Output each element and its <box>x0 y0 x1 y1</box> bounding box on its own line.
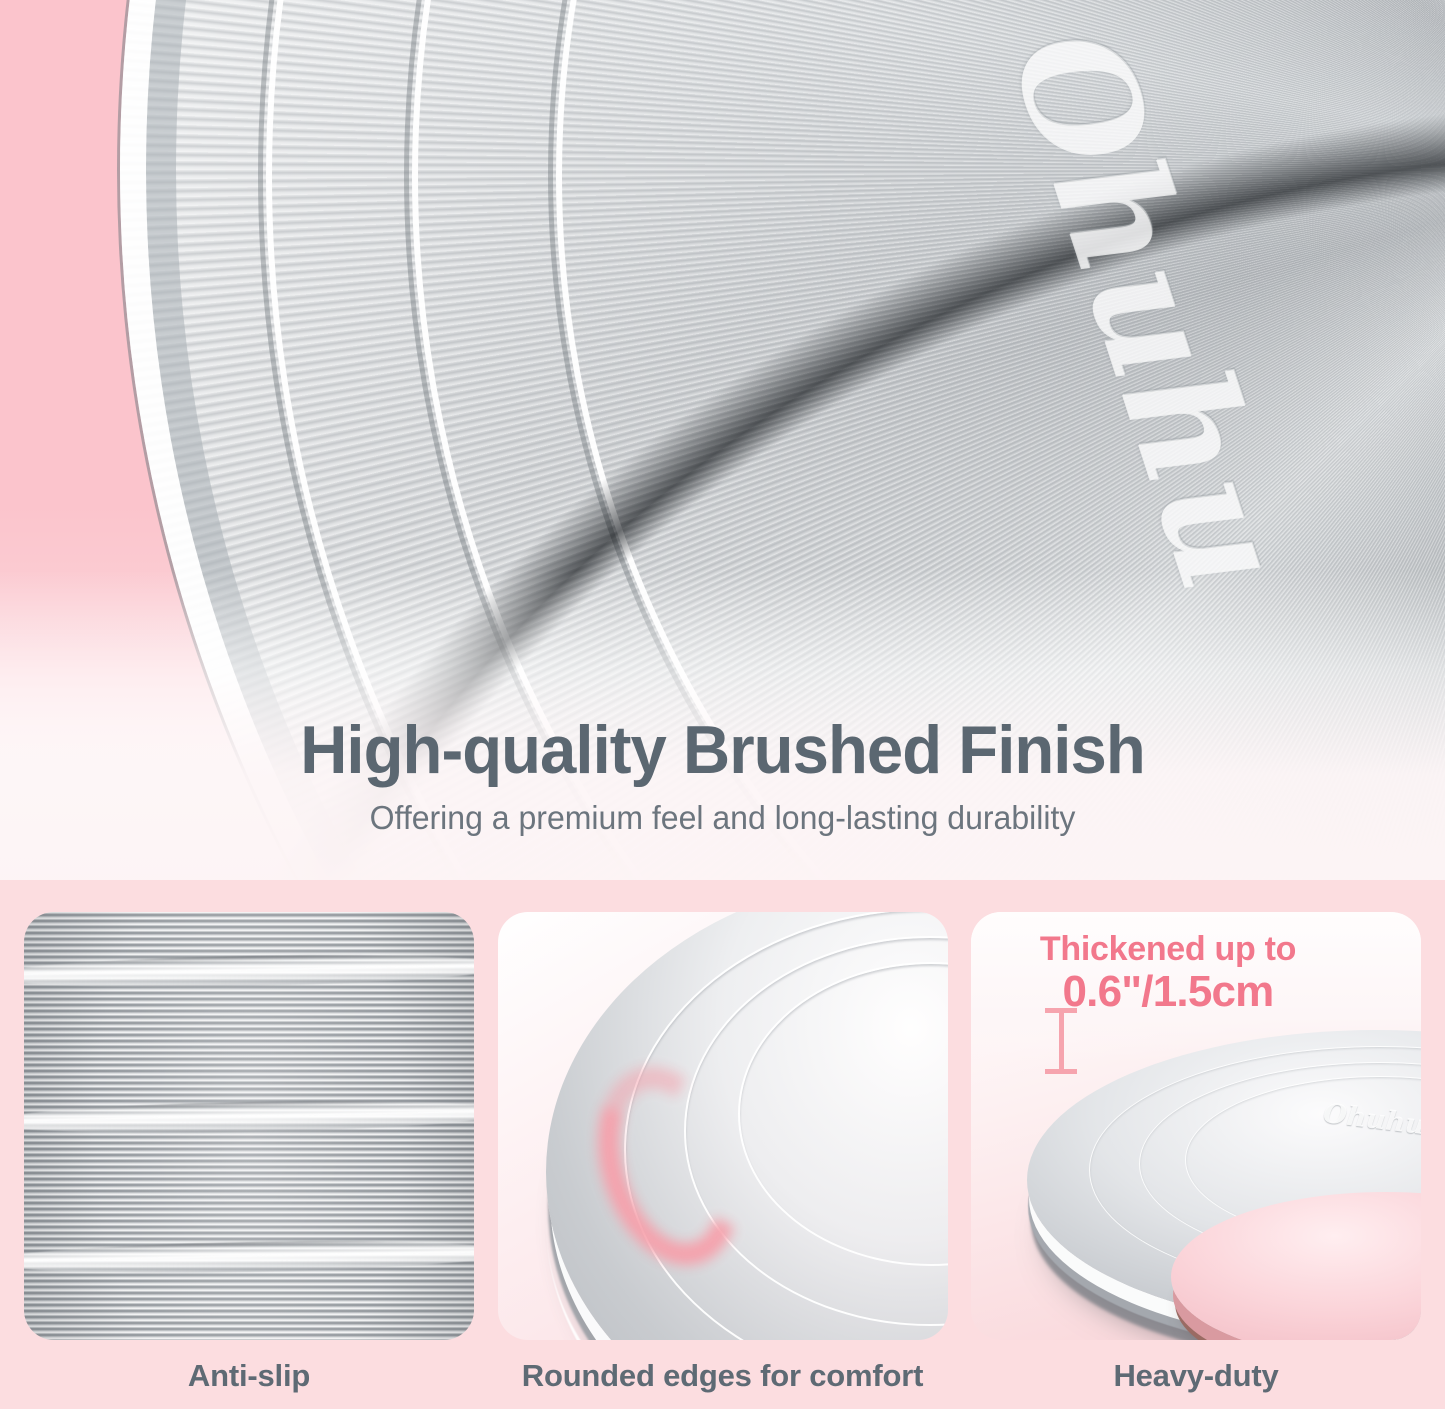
page-title: High-quality Brushed Finish <box>29 716 1416 785</box>
product-feature-page: Ohuhu High-quality Brushed Finish Offeri… <box>0 0 1445 1409</box>
headline-block: High-quality Brushed Finish Offering a p… <box>0 716 1445 837</box>
caption-heavy-duty: Heavy-duty <box>971 1358 1421 1394</box>
caption-anti-slip: Anti-slip <box>24 1358 474 1394</box>
feature-card-heavy-duty[interactable]: Ohuhu Thickened up to 0.6"/1.5cm <box>971 912 1421 1340</box>
thickness-measurement-marker <box>1045 1008 1077 1074</box>
feature-captions-row: Anti-slip Rounded edges for comfort Heav… <box>0 1358 1445 1394</box>
thickness-badge-line1: Thickened up to <box>1003 932 1333 967</box>
feature-cards-section: Ohuhu Thickened up to 0.6"/1.5cm Anti-sl… <box>0 880 1445 1409</box>
marker-stem <box>1059 1008 1064 1074</box>
thickness-badge: Thickened up to 0.6"/1.5cm <box>1003 932 1333 1015</box>
feature-card-anti-slip[interactable] <box>24 912 474 1340</box>
caption-rounded-edges: Rounded edges for comfort <box>498 1358 948 1394</box>
feature-card-rounded-edges[interactable] <box>498 912 948 1340</box>
page-subtitle: Offering a premium feel and long-lasting… <box>22 799 1424 837</box>
thickness-badge-line2: 0.6"/1.5cm <box>1003 969 1333 1015</box>
feature-card-row: Ohuhu Thickened up to 0.6"/1.5cm <box>0 912 1445 1340</box>
marker-cap-bottom <box>1045 1069 1077 1074</box>
